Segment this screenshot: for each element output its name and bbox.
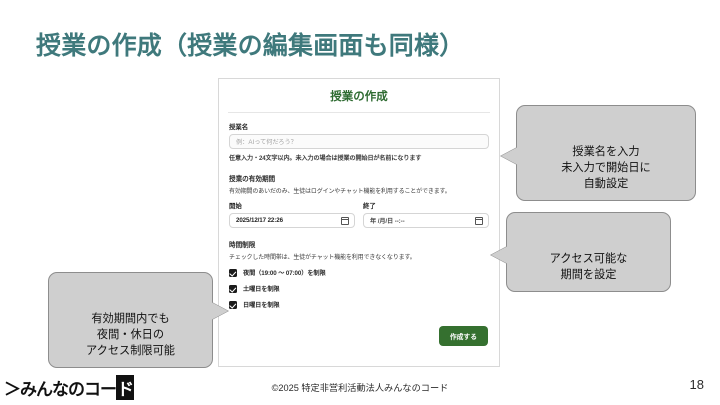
calendar-icon[interactable] [341, 217, 349, 225]
checkbox-sunday[interactable] [229, 301, 237, 309]
callout-access-period-text: アクセス可能な 期間を設定 [550, 253, 628, 281]
callout-tail [491, 246, 508, 264]
checkbox-sunday-label: 日曜日を制限 [243, 300, 280, 309]
page-title: 授業の作成（授業の編集画面も同様） [36, 26, 464, 62]
start-date-col: 開始 2025/12/17 22:26 [229, 201, 355, 228]
start-date-input[interactable]: 2025/12/17 22:26 [229, 213, 355, 228]
period-section-description: 有効期間のあいだのみ、生徒はログインやチャット機能を利用することができます。 [229, 186, 489, 195]
callout-access-restriction-text: 有効期間内でも 夜間・休日の アクセス制限可能 [86, 313, 175, 357]
checkbox-row-sunday[interactable]: 日曜日を制限 [229, 300, 489, 309]
slide-root: 授業の作成（授業の編集画面も同様） 授業の作成 授業名 例：AIって何だろう？ … [0, 0, 720, 405]
callout-access-period: アクセス可能な 期間を設定 [506, 212, 671, 292]
callout-access-restriction: 有効期間内でも 夜間・休日の アクセス制限可能 [48, 272, 213, 368]
checkbox-night[interactable] [229, 269, 237, 277]
end-date-col: 終了 年 /月/日 --:-- [363, 201, 489, 228]
callout-tail [211, 302, 228, 320]
calendar-icon[interactable] [475, 217, 483, 225]
form-header: 授業の作成 [219, 79, 499, 112]
create-class-form-card: 授業の作成 授業名 例：AIって何だろう？ 任意入力・24文字以内。未入力の場合… [218, 78, 500, 367]
copyright-text: ©2025 特定非営利活動法人みんなのコード [0, 380, 720, 394]
create-button[interactable]: 作成する [439, 326, 488, 346]
callout-class-name: 授業名を入力 未入力で開始日に 自動設定 [516, 105, 696, 201]
period-section-title: 授業の有効期間 [229, 173, 489, 183]
end-date-label: 終了 [363, 201, 489, 210]
class-name-input[interactable]: 例：AIって何だろう？ [229, 134, 489, 149]
class-name-helper: 任意入力・24文字以内。未入力の場合は授業の開始日が名前になります [229, 153, 489, 162]
end-date-input[interactable]: 年 /月/日 --:-- [363, 213, 489, 228]
callout-class-name-text: 授業名を入力 未入力で開始日に 自動設定 [561, 146, 651, 190]
checkbox-saturday-label: 土曜日を制限 [243, 284, 280, 293]
time-limit-section-title: 時間制限 [229, 239, 489, 249]
end-date-value: 年 /月/日 --:-- [370, 216, 405, 225]
time-limit-section-description: チェックした時間帯は、生徒がチャット機能を利用できなくなります。 [229, 252, 489, 261]
checkbox-saturday[interactable] [229, 285, 237, 293]
checkbox-row-saturday[interactable]: 土曜日を制限 [229, 284, 489, 293]
checkbox-night-label: 夜間（19:00 ～ 07:00）を制限 [243, 268, 326, 277]
callout-tail [501, 147, 518, 165]
form-body: 授業名 例：AIって何だろう？ 任意入力・24文字以内。未入力の場合は授業の開始… [219, 113, 499, 346]
submit-row: 作成する [229, 326, 489, 346]
page-number: 18 [690, 377, 704, 392]
start-date-value: 2025/12/17 22:26 [236, 217, 283, 224]
class-name-label: 授業名 [229, 122, 489, 131]
start-date-label: 開始 [229, 201, 355, 210]
class-name-placeholder: 例：AIって何だろう？ [236, 137, 297, 146]
checkbox-row-night[interactable]: 夜間（19:00 ～ 07:00）を制限 [229, 268, 489, 277]
period-date-row: 開始 2025/12/17 22:26 終了 年 /月/日 --:-- [229, 201, 489, 228]
